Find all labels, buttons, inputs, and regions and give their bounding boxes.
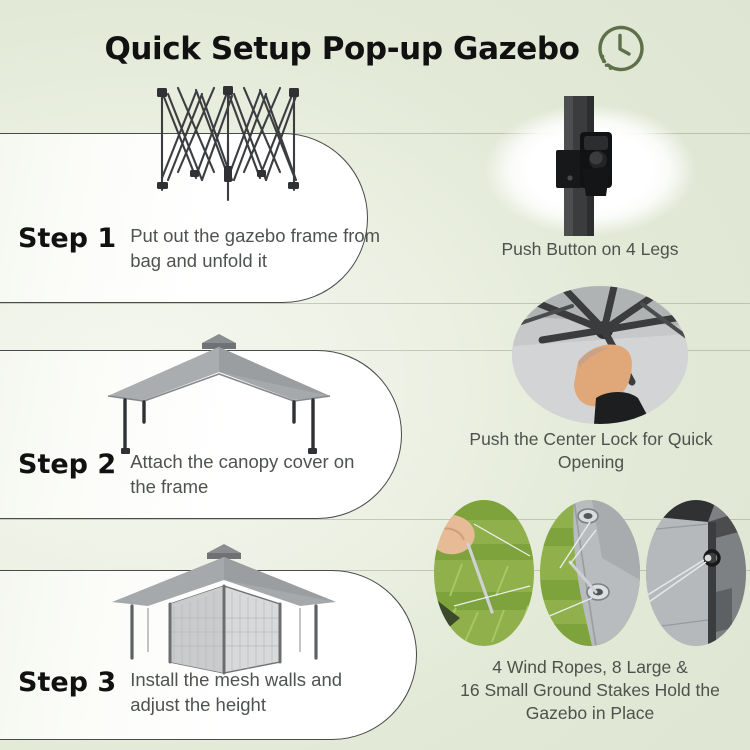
feature-3-caption-line: Gazebo in Place <box>432 702 748 725</box>
step-2-row: Step 2 Attach the canopy cover on the fr… <box>18 450 380 499</box>
center-lock-hand-photo <box>512 286 688 424</box>
step-2-description: Attach the canopy cover on the frame <box>130 450 380 499</box>
corner-rope-attachment-photo <box>646 500 746 646</box>
step-1-description: Put out the gazebo frame from bag and un… <box>130 224 380 273</box>
feature-2-caption-line: Push the Center Lock for Quick Opening <box>450 428 732 474</box>
step-1-row: Step 1 Put out the gazebo frame from bag… <box>18 224 380 273</box>
folded-gazebo-frame-illustration <box>148 82 308 207</box>
step-3-description: Install the mesh walls and adjust the he… <box>130 668 380 717</box>
clock-icon <box>594 23 646 75</box>
page-title: Quick Setup Pop-up Gazebo <box>104 31 579 67</box>
rope-grommet-stake-photo <box>540 500 640 646</box>
leg-push-button-photo <box>520 96 650 236</box>
step-2-label: Step 2 <box>18 450 116 479</box>
ground-stake-in-grass-photo <box>434 500 534 646</box>
feature-3-caption-line: 4 Wind Ropes, 8 Large & <box>432 656 748 679</box>
feature-2-caption: Push the Center Lock for Quick Opening <box>450 428 732 474</box>
header: Quick Setup Pop-up Gazebo <box>0 18 750 80</box>
feature-3-caption-line: 16 Small Ground Stakes Hold the <box>432 679 748 702</box>
feature-1-caption: Push Button on 4 Legs <box>440 238 740 261</box>
feature-3-caption: 4 Wind Ropes, 8 Large & 16 Small Ground … <box>432 656 748 725</box>
step-3-label: Step 3 <box>18 668 116 697</box>
step-1-label: Step 1 <box>18 224 116 253</box>
step-3-row: Step 3 Install the mesh walls and adjust… <box>18 668 380 717</box>
gazebo-canopy-illustration <box>104 330 334 460</box>
infographic-canvas: Quick Setup Pop-up Gazebo <box>0 0 750 750</box>
